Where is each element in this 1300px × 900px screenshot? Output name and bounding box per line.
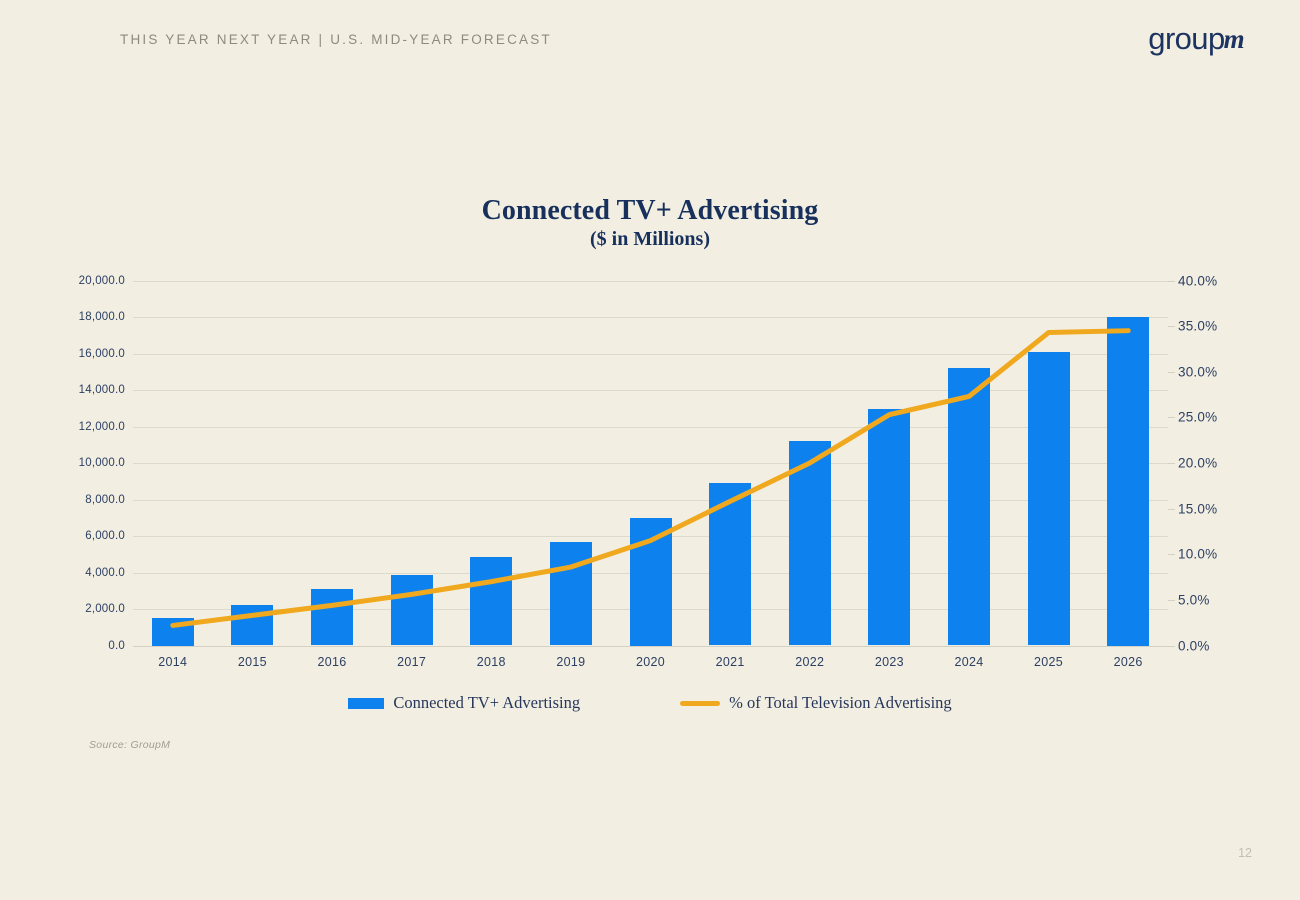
x-tick-label-2014: 2014 [158,655,187,669]
gridline [133,390,1168,391]
y-left-tick-label: 14,000.0 [79,384,125,396]
x-tick-label-2020: 2020 [636,655,665,669]
legend-item-line[interactable]: % of Total Television Advertising [680,693,952,713]
x-tick-label-2019: 2019 [556,655,585,669]
y-left-tick-label: 20,000.0 [79,275,125,287]
y-left-tick-label: 0.0 [108,640,125,652]
x-tick-label-2021: 2021 [716,655,745,669]
y-left-tick-label: 12,000.0 [79,421,125,433]
y-right-tick-label: 40.0% [1178,273,1217,288]
y-right-tick-mark [1168,372,1175,373]
x-tick-label-2017: 2017 [397,655,426,669]
bar-2016[interactable] [311,589,353,646]
y-right-tick-mark [1168,417,1175,418]
bar-2022[interactable] [789,441,831,645]
chart-plot-area: 0.02,000.04,000.06,000.08,000.010,000.01… [0,0,1300,900]
y-right-tick-mark [1168,600,1175,601]
bar-2014[interactable] [152,618,194,645]
bar-2021[interactable] [709,483,751,645]
bar-2024[interactable] [948,368,990,645]
line-series [0,0,1300,900]
gridline [133,281,1168,282]
y-left-tick-label: 6,000.0 [85,530,125,542]
gridline [133,500,1168,501]
bar-2019[interactable] [550,542,592,645]
x-tick-label-2026: 2026 [1114,655,1143,669]
y-left-tick-label: 8,000.0 [85,494,125,506]
y-right-tick-mark [1168,509,1175,510]
bar-2017[interactable] [391,575,433,645]
bar-2023[interactable] [868,409,910,645]
y-right-tick-label: 30.0% [1178,364,1217,379]
y-right-tick-label: 5.0% [1178,592,1210,607]
x-tick-label-2023: 2023 [875,655,904,669]
y-right-tick-label: 15.0% [1178,501,1217,516]
legend-bar-swatch-icon [348,698,384,709]
bar-2025[interactable] [1028,352,1070,646]
x-tick-label-2018: 2018 [477,655,506,669]
y-right-tick-mark [1168,463,1175,464]
y-left-tick-label: 16,000.0 [79,348,125,360]
bar-2026[interactable] [1107,317,1149,646]
gridline [133,646,1168,647]
gridline [133,463,1168,464]
y-right-tick-mark [1168,281,1175,282]
gridline [133,354,1168,355]
x-tick-label-2025: 2025 [1034,655,1063,669]
legend-line-swatch-icon [680,701,720,706]
source-note: Source: GroupM [89,739,170,751]
y-right-tick-label: 20.0% [1178,456,1217,471]
page-number: 12 [1238,846,1252,860]
y-left-tick-label: 18,000.0 [79,311,125,323]
y-right-tick-label: 10.0% [1178,547,1217,562]
legend-line-label: % of Total Television Advertising [729,693,952,713]
bar-2020[interactable] [630,518,672,646]
y-right-tick-label: 0.0% [1178,638,1210,653]
chart-legend: Connected TV+ Advertising % of Total Tel… [0,693,1300,713]
bar-2015[interactable] [231,605,273,645]
gridline [133,317,1168,318]
legend-item-bars[interactable]: Connected TV+ Advertising [348,693,580,713]
x-tick-label-2024: 2024 [954,655,983,669]
y-right-tick-label: 25.0% [1178,410,1217,425]
y-right-tick-mark [1168,646,1175,647]
y-right-tick-mark [1168,326,1175,327]
y-left-tick-label: 10,000.0 [79,457,125,469]
x-tick-label-2016: 2016 [318,655,347,669]
gridline [133,427,1168,428]
y-right-tick-label: 35.0% [1178,319,1217,334]
x-tick-label-2022: 2022 [795,655,824,669]
y-left-tick-label: 4,000.0 [85,567,125,579]
y-right-tick-mark [1168,554,1175,555]
legend-bar-label: Connected TV+ Advertising [393,693,580,713]
bar-2018[interactable] [470,557,512,646]
y-left-tick-label: 2,000.0 [85,603,125,615]
x-tick-label-2015: 2015 [238,655,267,669]
